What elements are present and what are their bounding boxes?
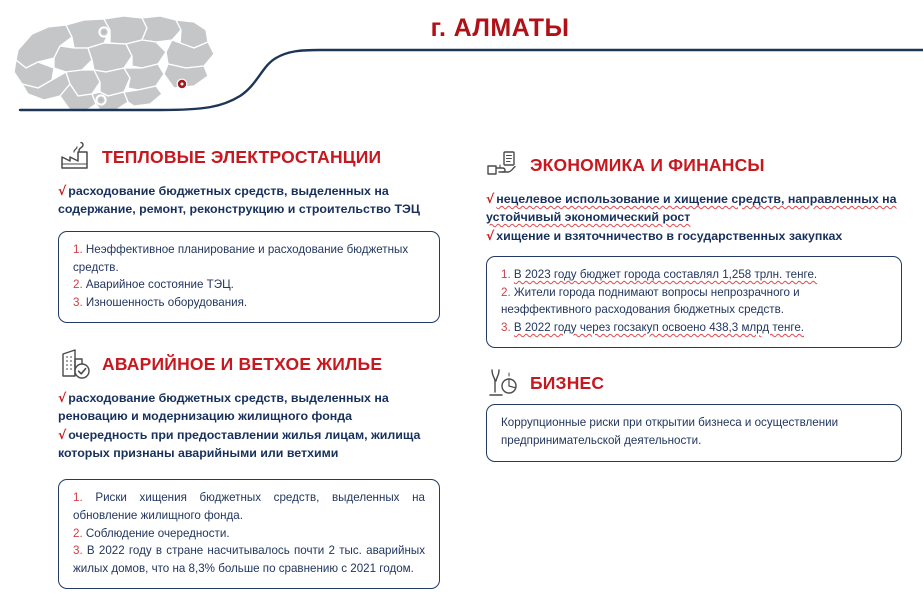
bullet-text: расходование бюджетных средств, выделенн…	[58, 184, 420, 216]
info-box-business: Коррупционные риски при открытии бизнеса…	[486, 404, 902, 461]
item-text: Соблюдение очередности.	[86, 527, 230, 540]
section-title: БИЗНЕС	[530, 373, 604, 394]
section-bullets: √расходование бюджетных средств, выделен…	[58, 182, 448, 219]
item-text: В 2022 году через госзакуп освоено 438,3…	[514, 321, 804, 334]
list-item: 2. Аварийное состояние ТЭЦ.	[73, 276, 425, 294]
bullet-text: расходование бюджетных средств, выделенн…	[58, 391, 389, 423]
check-icon: √	[58, 183, 66, 198]
list-item: Коррупционные риски при открытии бизнеса…	[501, 414, 887, 449]
item-number: 1.	[73, 243, 83, 256]
section-bullets: √расходование бюджетных средств, выделен…	[58, 389, 448, 463]
list-item: 2. Соблюдение очередности.	[73, 525, 425, 543]
person-piechart-icon	[486, 366, 520, 400]
page-title: г. АЛМАТЫ	[300, 14, 700, 43]
item-number: 3.	[73, 544, 83, 557]
bullet-text: хищение и взяточничество в государственн…	[496, 229, 842, 243]
item-text: Риски хищения бюджетных средств, выделен…	[73, 491, 425, 522]
item-number: 2.	[73, 278, 83, 291]
item-text: В 2023 году бюджет города составлял 1,25…	[514, 268, 817, 281]
section-economy-finance: ЭКОНОМИКА И ФИНАНСЫ √нецелевое использов…	[486, 148, 906, 348]
list-item: 3. В 2022 году через госзакуп освоено 43…	[501, 319, 887, 337]
info-box-housing: 1. Риски хищения бюджетных средств, выде…	[58, 479, 440, 589]
list-item: 3. В 2022 году в стране насчитывалось по…	[73, 542, 425, 577]
list-item: 1. В 2023 году бюджет города составлял 1…	[501, 266, 887, 284]
item-text: Жители города поднимают вопросы непрозра…	[501, 286, 800, 317]
bullet-text: нецелевое использование и хищение средст…	[486, 192, 897, 224]
item-number: 1.	[501, 268, 511, 281]
kazakhstan-map	[8, 10, 223, 120]
section-header: ТЕПЛОВЫЕ ЭЛЕКТРОСТАНЦИИ	[58, 140, 448, 174]
section-title: ЭКОНОМИКА И ФИНАНСЫ	[530, 155, 765, 176]
list-item: 3. Изношенность оборудования.	[73, 294, 425, 312]
check-icon: √	[58, 427, 66, 442]
list-item: 1. Риски хищения бюджетных средств, выде…	[73, 489, 425, 524]
item-text: Коррупционные риски при открытии бизнеса…	[501, 416, 838, 447]
section-title: АВАРИЙНОЕ И ВЕТХОЕ ЖИЛЬЕ	[102, 354, 382, 375]
info-box-thermal: 1. Неэффективное планирование и расходов…	[58, 231, 440, 323]
section-header: ЭКОНОМИКА И ФИНАНСЫ	[486, 148, 906, 182]
left-column: ТЕПЛОВЫЕ ЭЛЕКТРОСТАНЦИИ √расходование бю…	[58, 140, 448, 589]
item-text: Изношенность оборудования.	[86, 296, 247, 309]
bullet-text: очередность при предоставлении жилья лиц…	[58, 428, 420, 460]
check-icon: √	[486, 191, 494, 206]
item-number: 2.	[501, 286, 511, 299]
right-column: ЭКОНОМИКА И ФИНАНСЫ √нецелевое использов…	[486, 148, 906, 462]
section-bullets: √нецелевое использование и хищение средс…	[486, 190, 906, 246]
list-item: 1. Неэффективное планирование и расходов…	[73, 241, 425, 276]
item-text: В 2022 году в стране насчитывалось почти…	[73, 544, 425, 575]
page-header: г. АЛМАТЫ	[0, 0, 923, 130]
section-header: АВАРИЙНОЕ И ВЕТХОЕ ЖИЛЬЕ	[58, 347, 448, 381]
section-header: БИЗНЕС	[486, 366, 906, 400]
hand-money-icon	[486, 148, 520, 182]
item-number: 1.	[73, 491, 83, 504]
factory-icon	[58, 140, 92, 174]
section-thermal-power-plants: ТЕПЛОВЫЕ ЭЛЕКТРОСТАНЦИИ √расходование бю…	[58, 140, 448, 323]
list-item: 2. Жители города поднимают вопросы непро…	[501, 284, 887, 319]
item-number: 3.	[501, 321, 511, 334]
info-box-economy: 1. В 2023 году бюджет города составлял 1…	[486, 256, 902, 348]
section-emergency-housing: АВАРИЙНОЕ И ВЕТХОЕ ЖИЛЬЕ √расходование б…	[58, 347, 448, 589]
section-title: ТЕПЛОВЫЕ ЭЛЕКТРОСТАНЦИИ	[102, 147, 381, 168]
check-icon: √	[486, 228, 494, 243]
check-icon: √	[58, 390, 66, 405]
item-text: Аварийное состояние ТЭЦ.	[86, 278, 234, 291]
section-business: БИЗНЕС Коррупционные риски при открытии …	[486, 366, 906, 461]
building-check-icon	[58, 347, 92, 381]
item-number: 2.	[73, 527, 83, 540]
item-number: 3.	[73, 296, 83, 309]
item-text: Неэффективное планирование и расходовани…	[73, 243, 408, 274]
